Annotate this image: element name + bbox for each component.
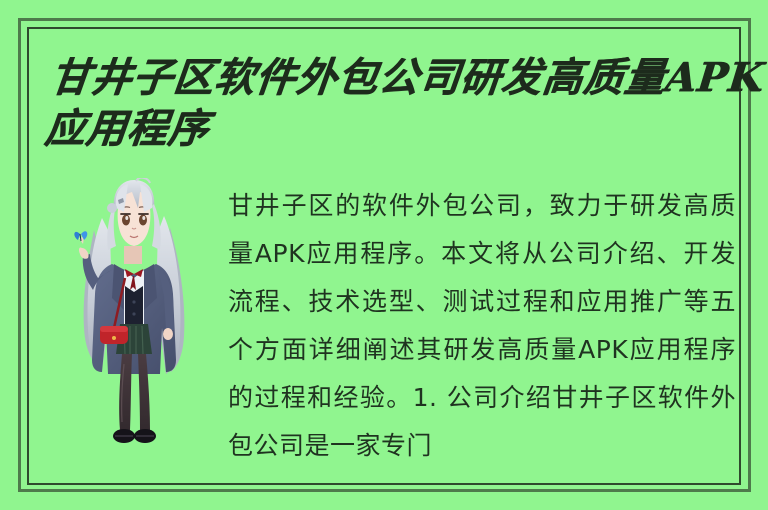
page-title: 甘井子区软件外包公司研发高质量APK应用程序 <box>43 52 768 154</box>
anime-girl-illustration <box>52 178 218 470</box>
article-body-text: 甘井子区的软件外包公司，致力于研发高质量APK应用程序。本文将从公司介绍、开发流… <box>228 182 736 482</box>
article-card: 甘井子区软件外包公司研发高质量APK应用程序 甘井子区的软件外包公司，致力于研发… <box>0 0 768 510</box>
